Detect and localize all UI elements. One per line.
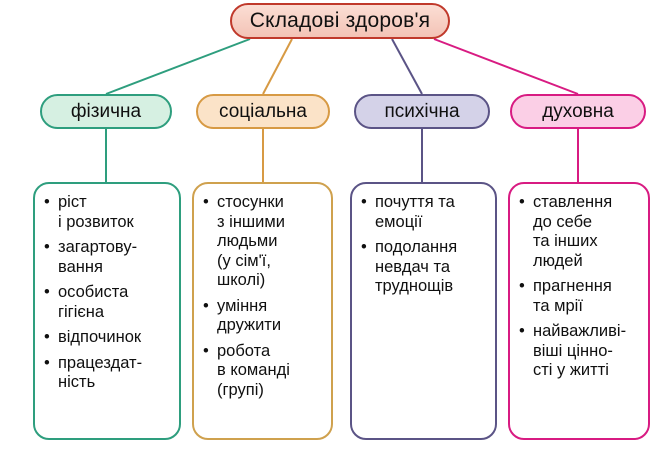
detail-box-spiritual: • ставлення до себе та інших людей • пра… (508, 182, 650, 440)
health-components-diagram: Складові здоров'я фізична соціальна псих… (0, 0, 659, 457)
category-node-mental-label: психічна (384, 101, 459, 123)
list-item: • стосунки з іншими людьми (у сім'ї, шко… (202, 193, 325, 291)
bullet-glyph: • (519, 277, 525, 297)
bullet-glyph: • (203, 297, 209, 317)
list-item: • працездат- ність (43, 354, 173, 393)
category-node-spiritual: духовна (510, 94, 646, 129)
connector-root-to-social (263, 39, 292, 94)
connector-root-to-spiritual (434, 39, 578, 94)
list-item: • ріст і розвиток (43, 193, 173, 232)
detail-box-mental: • почуття та емоції • подолання невдач т… (350, 182, 497, 440)
bullet-glyph: • (44, 283, 50, 303)
detail-box-physical: • ріст і розвиток • загартову- вання • о… (33, 182, 181, 440)
list-item: • подолання невдач та труднощів (360, 238, 489, 297)
list-item-text: робота в команді (групі) (217, 342, 325, 401)
list-item-text: працездат- ність (58, 354, 173, 393)
connector-root-to-physical (106, 39, 250, 94)
bullet-glyph: • (203, 342, 209, 362)
list-item-text: прагнення та мрії (533, 277, 642, 316)
bullet-glyph: • (519, 193, 525, 213)
list-item-text: відпочинок (58, 328, 173, 348)
list-item-text: стосунки з іншими людьми (у сім'ї, школі… (217, 193, 325, 291)
list-item-text: ріст і розвиток (58, 193, 173, 232)
bullet-glyph: • (361, 238, 367, 258)
list-item-text: почуття та емоції (375, 193, 489, 232)
list-item: • уміння дружити (202, 297, 325, 336)
connector-root-to-mental (392, 39, 422, 94)
bullet-glyph: • (44, 193, 50, 213)
list-item: • почуття та емоції (360, 193, 489, 232)
list-item: • особиста гігієна (43, 283, 173, 322)
category-node-social: соціальна (196, 94, 330, 129)
bullet-glyph: • (44, 354, 50, 374)
detail-list-social: • стосунки з іншими людьми (у сім'ї, шко… (202, 193, 325, 400)
list-item: • ставлення до себе та інших людей (518, 193, 642, 271)
category-node-social-label: соціальна (219, 101, 307, 123)
list-item-text: ставлення до себе та інших людей (533, 193, 642, 271)
detail-list-spiritual: • ставлення до себе та інших людей • пра… (518, 193, 642, 381)
list-item: • найважливі- віші цінно- сті у житті (518, 322, 642, 381)
detail-list-mental: • почуття та емоції • подолання невдач т… (360, 193, 489, 297)
list-item: • робота в команді (групі) (202, 342, 325, 401)
bullet-glyph: • (203, 193, 209, 213)
list-item: • відпочинок (43, 328, 173, 348)
list-item-text: подолання невдач та труднощів (375, 238, 489, 297)
list-item-text: загартову- вання (58, 238, 173, 277)
category-node-physical-label: фізична (71, 101, 141, 123)
category-node-physical: фізична (40, 94, 172, 129)
root-node-label: Складові здоров'я (250, 9, 431, 33)
root-node-health-components: Складові здоров'я (230, 3, 450, 39)
list-item-text: найважливі- віші цінно- сті у житті (533, 322, 642, 381)
bullet-glyph: • (44, 328, 50, 348)
detail-list-physical: • ріст і розвиток • загартову- вання • о… (43, 193, 173, 393)
list-item: • прагнення та мрії (518, 277, 642, 316)
bullet-glyph: • (519, 322, 525, 342)
category-node-spiritual-label: духовна (542, 101, 614, 123)
bullet-glyph: • (44, 238, 50, 258)
list-item: • загартову- вання (43, 238, 173, 277)
detail-box-social: • стосунки з іншими людьми (у сім'ї, шко… (192, 182, 333, 440)
list-item-text: уміння дружити (217, 297, 325, 336)
bullet-glyph: • (361, 193, 367, 213)
list-item-text: особиста гігієна (58, 283, 173, 322)
category-node-mental: психічна (354, 94, 490, 129)
